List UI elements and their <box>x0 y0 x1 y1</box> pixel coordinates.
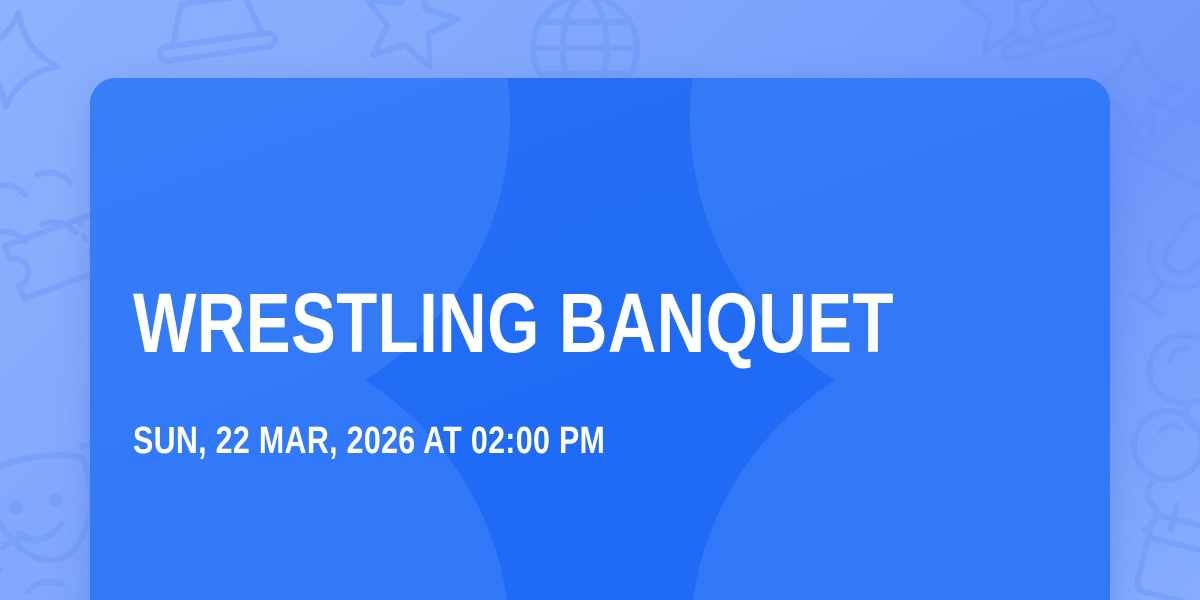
event-banner: WRESTLING BANQUET SUN, 22 MAR, 2026 AT 0… <box>0 0 1200 600</box>
event-title: WRESTLING BANQUET <box>133 281 894 365</box>
event-card[interactable]: WRESTLING BANQUET SUN, 22 MAR, 2026 AT 0… <box>90 78 1110 600</box>
card-content: WRESTLING BANQUET SUN, 22 MAR, 2026 AT 0… <box>133 78 1070 600</box>
event-date-time: SUN, 22 MAR, 2026 AT 02:00 PM <box>133 421 605 461</box>
